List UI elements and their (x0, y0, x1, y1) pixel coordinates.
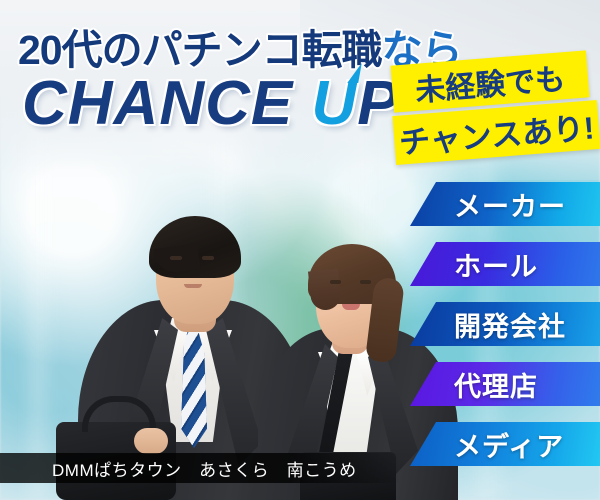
chance-up-logo: CHANCE UP (22, 68, 400, 139)
menu-item-hall[interactable]: ホール (410, 242, 600, 286)
menu-item-hall-label: ホール (454, 245, 538, 284)
badge-line-2-text: チャンスあり! (397, 102, 595, 162)
yellow-badge: 未経験でも チャンスあり! (392, 56, 600, 164)
credit-strip: DMMぱちタウン あさくら 南こうめ (0, 453, 400, 483)
menu-item-agency[interactable]: 代理店 (410, 362, 600, 406)
category-menu: メーカー ホール 開発会社 代理店 メディア (410, 182, 600, 482)
headline-main: 20代のパチンコ転職 (18, 27, 382, 73)
menu-item-agency-label: 代理店 (454, 365, 538, 404)
businessman-eye-left (170, 256, 182, 260)
businesswoman-eye-right (360, 280, 371, 284)
menu-item-media-label: メディア (454, 425, 564, 464)
advertisement-banner: 20代のパチンコ転職なら CHANCE UP 未経験でも チャンスあり! メーカ… (0, 0, 600, 500)
businessman-hair (149, 216, 241, 278)
businessman-hand (134, 428, 168, 454)
businessman-mouth (184, 284, 202, 288)
logo-chance-text: CHANCE (22, 69, 311, 138)
menu-item-maker[interactable]: メーカー (410, 182, 600, 226)
credit-text: DMMぱちタウン あさくら 南こうめ (52, 456, 357, 481)
badge-line-1-text: 未経験でも (414, 54, 567, 110)
logo-u-letter: U (311, 69, 357, 138)
businessman-eye-right (202, 256, 214, 260)
menu-item-development-company-label: 開発会社 (454, 305, 566, 344)
menu-item-media[interactable]: メディア (410, 422, 600, 466)
menu-item-maker-label: メーカー (454, 185, 566, 224)
menu-item-development-company[interactable]: 開発会社 (410, 302, 600, 346)
businesswoman-eye-left (330, 280, 341, 284)
